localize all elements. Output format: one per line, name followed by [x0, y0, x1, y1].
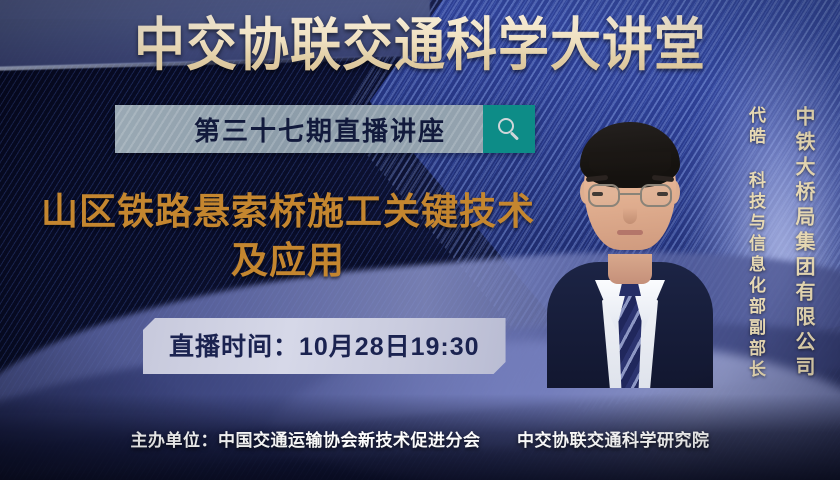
- glasses-icon: [588, 184, 672, 208]
- speaker-name-title: 代皓 科技与信息化部副部长: [743, 106, 768, 381]
- episode-bar: 第三十七期直播讲座: [115, 105, 535, 153]
- poster-content: 中交协联交通科学大讲堂 第三十七期直播讲座 山区铁路悬索桥施工关键技术 及应用 …: [0, 0, 840, 480]
- headline-line-2: 及应用: [28, 237, 548, 286]
- search-button[interactable]: [483, 105, 535, 153]
- episode-label: 第三十七期直播讲座: [115, 105, 483, 153]
- neck: [608, 254, 652, 284]
- footer-organizer: 主办单位：中国交通运输协会新技术促进分会: [131, 431, 481, 450]
- webinar-poster: 中交协联交通科学大讲堂 第三十七期直播讲座 山区铁路悬索桥施工关键技术 及应用 …: [0, 0, 840, 480]
- broadcast-time-badge: 直播时间：10月28日19:30: [143, 318, 506, 374]
- speaker-portrait: [545, 96, 715, 388]
- nose: [623, 208, 637, 224]
- speaker-organization: 中铁大桥局集团有限公司: [789, 106, 818, 381]
- mouth: [617, 230, 643, 235]
- lecture-headline: 山区铁路悬索桥施工关键技术 及应用: [28, 188, 548, 286]
- footer-institute: 中交协联交通科学研究院: [517, 431, 710, 450]
- main-title: 中交协联交通科学大讲堂: [0, 14, 840, 76]
- organizer-footer: 主办单位：中国交通运输协会新技术促进分会 中交协联交通科学研究院: [0, 426, 840, 451]
- headline-line-1: 山区铁路悬索桥施工关键技术: [41, 191, 535, 232]
- search-icon: [498, 118, 520, 140]
